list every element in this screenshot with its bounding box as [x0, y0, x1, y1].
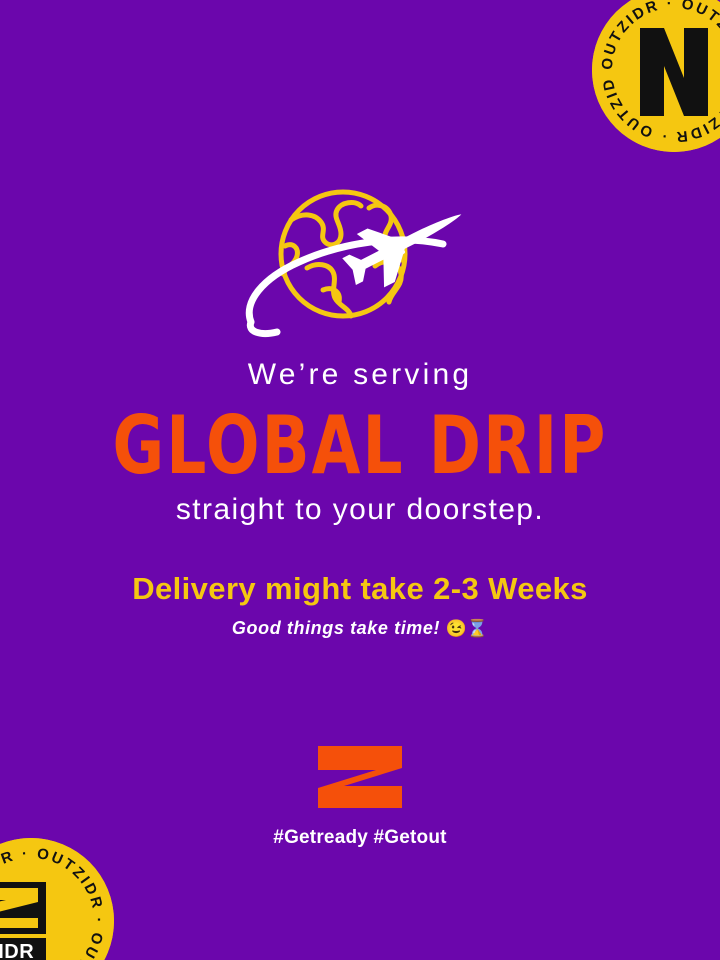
serving-line: We’re serving — [0, 360, 720, 396]
footer-brand: #Getready #Getout — [0, 746, 720, 849]
outzidr-stamp-bottom-left: OUTZIDR · OUTZIDR · OUTZIDR · OUTZIDR · … — [0, 838, 114, 960]
hashtags-line: #Getready #Getout — [0, 813, 720, 849]
good-things-line: Good things take time! 😉⌛ — [0, 604, 720, 637]
orbit-swoosh-tail — [250, 322, 277, 334]
stamp-wordmark: OUTZIDR — [0, 941, 34, 960]
delivery-estimate: Delivery might take 2-3 Weeks — [0, 525, 720, 604]
headline-global-drip: GLOBAL DRIP — [0, 396, 720, 488]
outzidr-stamp-top-right: OUTZIDR · OUTZIDR · OUTZIDR · OUTZIDR · — [592, 0, 720, 152]
z-monogram-logo — [318, 746, 402, 808]
hourglass-emoji: ⌛ — [467, 619, 488, 638]
copy-block: We’re serving GLOBAL DRIP straight to yo… — [0, 360, 720, 637]
good-things-text: Good things take time! — [232, 618, 440, 638]
globe-with-airplane-icon — [237, 182, 485, 338]
poster-canvas: OUTZIDR · OUTZIDR · OUTZIDR · OUTZIDR · … — [0, 0, 720, 960]
winking-face-emoji: 😉 — [446, 619, 467, 638]
